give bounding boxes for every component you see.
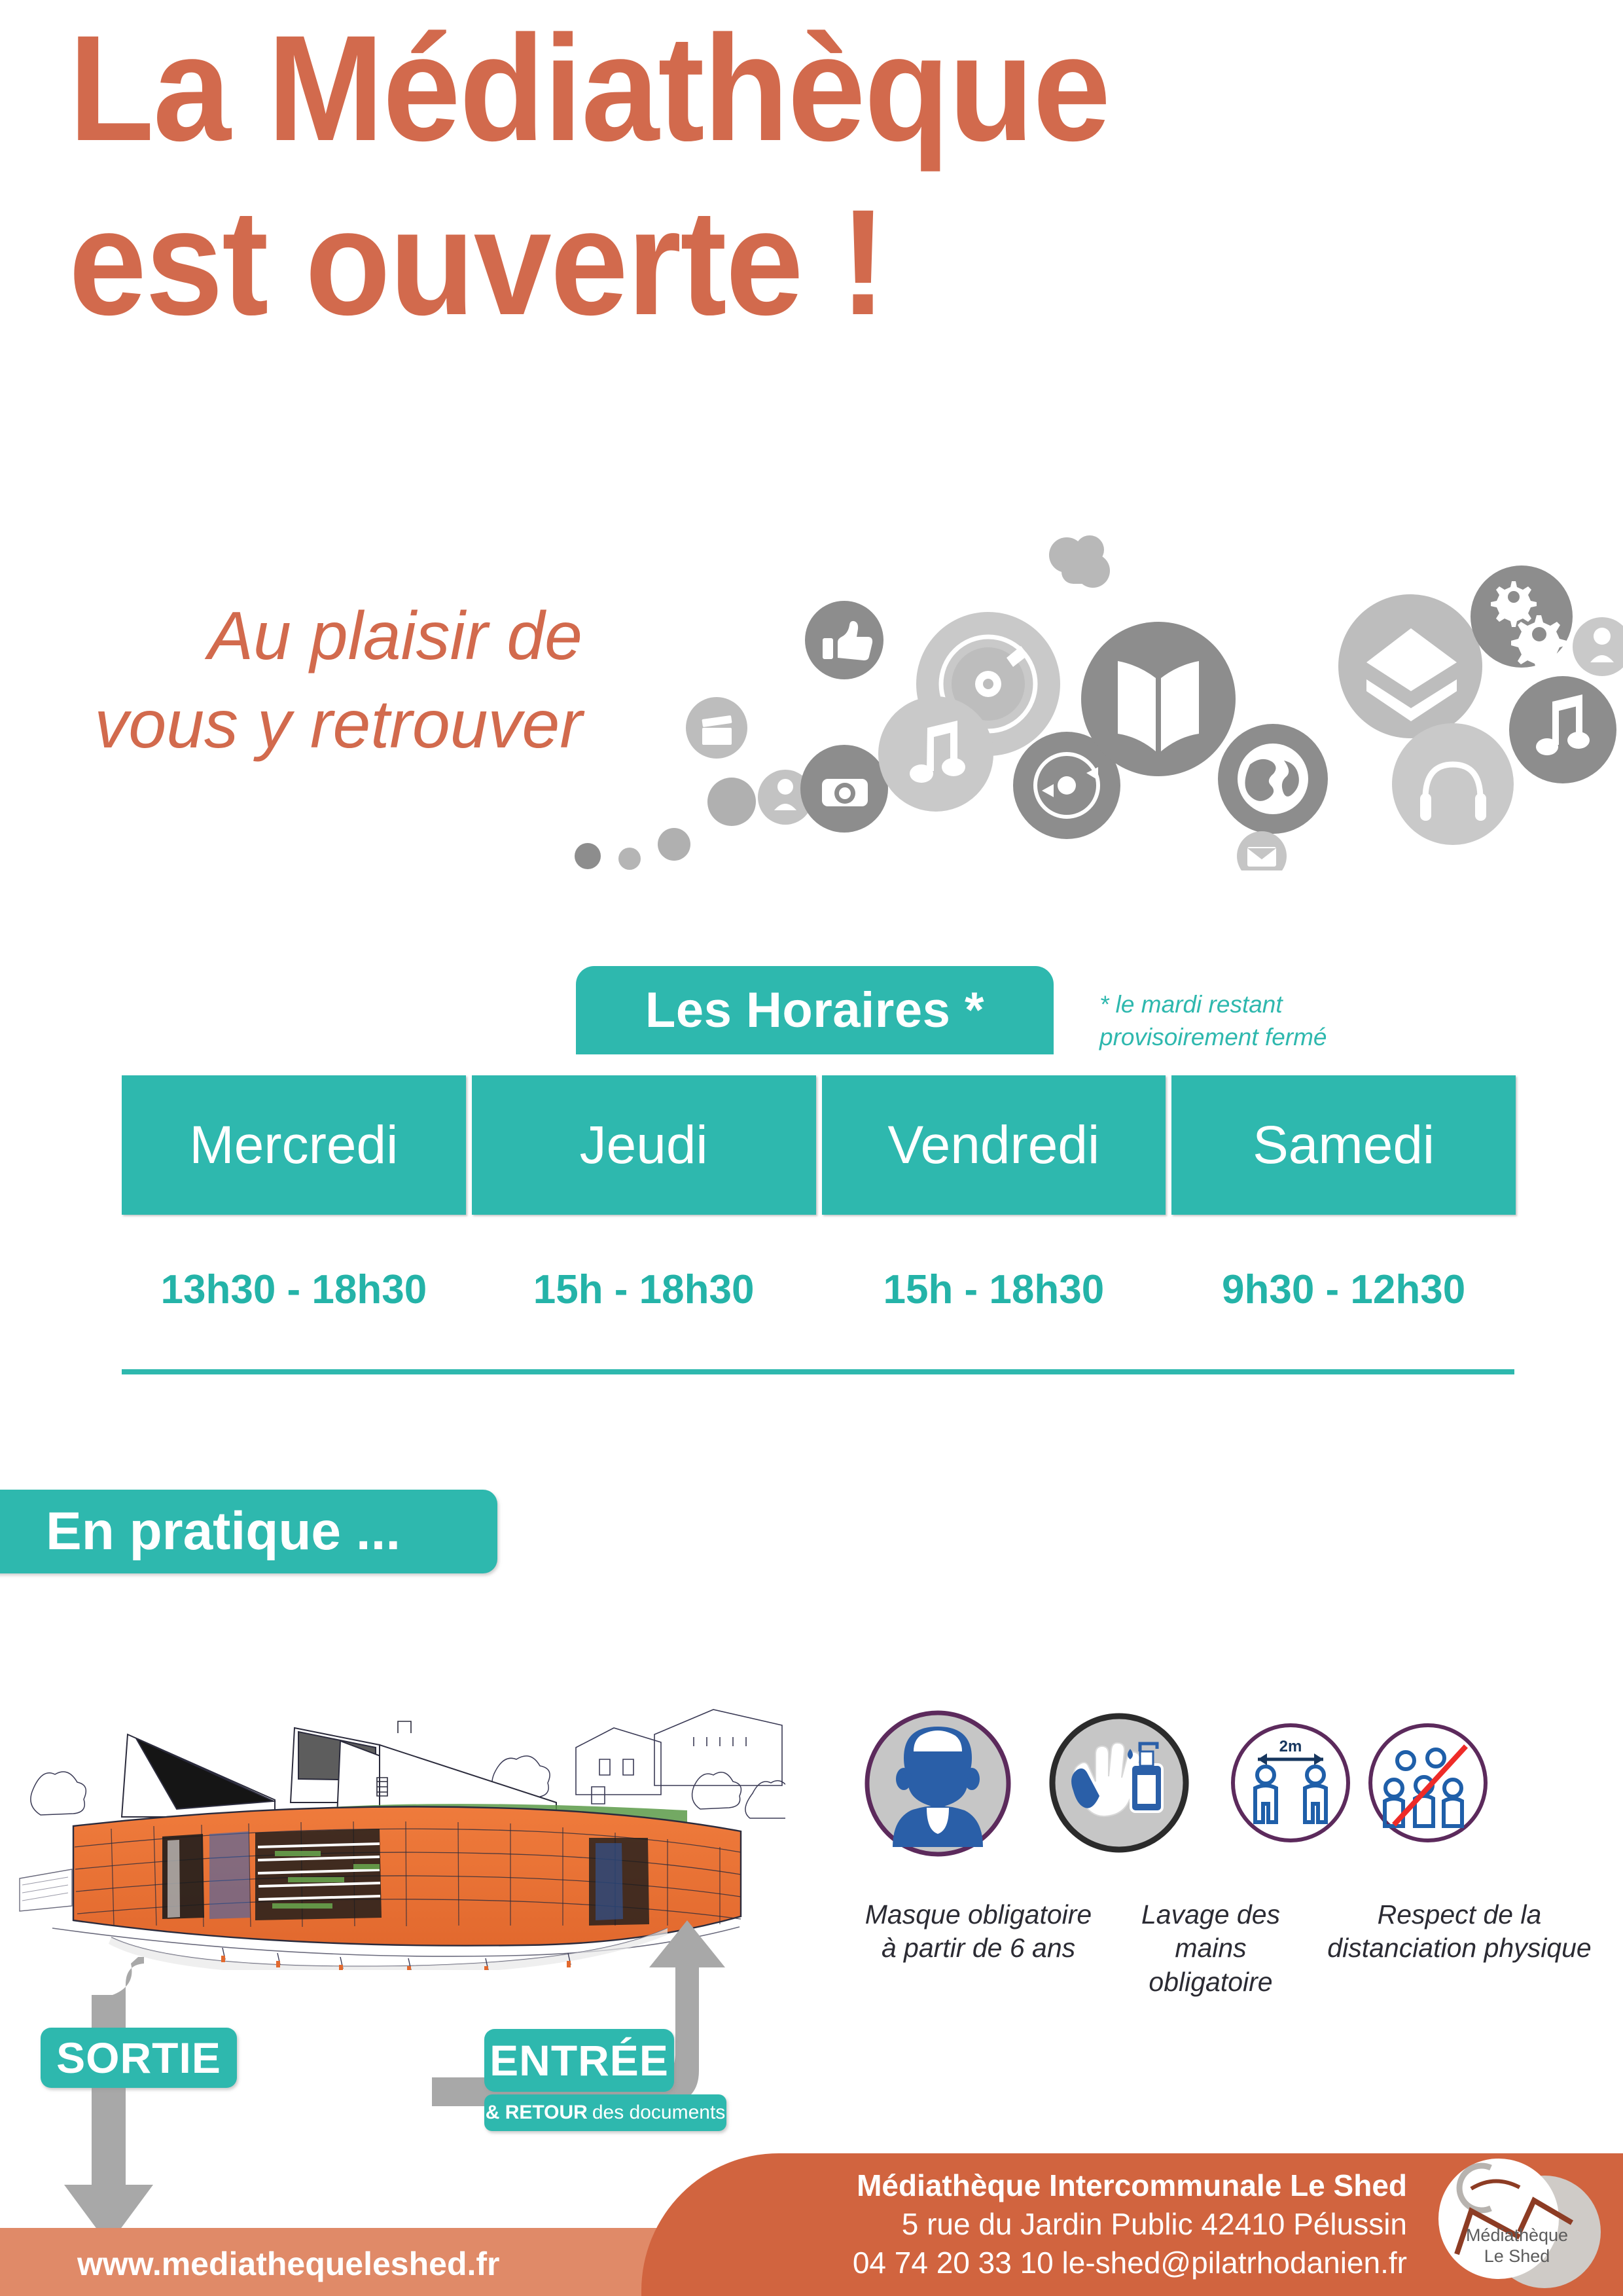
footer-address: 5 rue du Jardin Public 42410 Pélussin	[853, 2205, 1407, 2244]
entrance-sub-rest: des documents	[592, 2102, 725, 2124]
covid-measures: 2m	[851, 1702, 1610, 2029]
footer-contact-line: 04 74 20 33 10 le-shed@pilatrhodanien.fr	[853, 2244, 1407, 2282]
footer-contact-text: Médiathèque Intercommunale Le Shed 5 rue…	[853, 2166, 1407, 2282]
hours-samedi: 9h30 - 12h30	[1171, 1244, 1516, 1335]
covid-caption-mask: Masque obligatoire à partir de 6 ans	[851, 1898, 1106, 1965]
schedule-divider	[122, 1369, 1514, 1374]
dot-icon	[575, 843, 601, 869]
globe-icon	[1238, 744, 1308, 814]
exit-arrow-shape	[64, 1957, 153, 2245]
day-header-jeudi: Jeudi	[472, 1075, 816, 1215]
logo-text-line2: Le Shed	[1484, 2246, 1550, 2266]
logo: Médiathèque Le Shed	[1414, 2155, 1603, 2296]
distance-label: 2m	[1279, 1738, 1302, 1755]
schedule-tab-title: Les Horaires *	[576, 966, 1054, 1054]
person-icon	[1573, 617, 1623, 676]
hand-wash-icon	[1047, 1711, 1191, 1855]
film-clapper-icon	[702, 715, 732, 745]
covid-caption-distancing-line1: Respect de la	[1309, 1898, 1610, 1931]
face-mask-icon	[863, 1708, 1013, 1859]
hours-vendredi: 15h - 18h30	[822, 1244, 1166, 1335]
physical-distancing-icon: 2m	[1230, 1723, 1351, 1844]
title-line-2: est ouverte !	[69, 187, 1347, 338]
page-title: La Médiathèque est ouverte !	[69, 13, 1347, 338]
covid-caption-mask-line2: à partir de 6 ans	[851, 1931, 1106, 1965]
covid-caption-distancing-line2: distanciation physique	[1309, 1931, 1610, 1965]
covid-caption-distancing: Respect de la distanciation physique	[1309, 1898, 1610, 1965]
dot-icon	[618, 848, 641, 870]
tagline: Au plaisir de vous y retrouver	[85, 592, 582, 769]
covid-caption-mask-line1: Masque obligatoire	[851, 1898, 1106, 1931]
hours-jeudi: 15h - 18h30	[472, 1244, 816, 1335]
open-book-icon	[1081, 622, 1236, 776]
headphones-icon	[1392, 723, 1514, 845]
entrance-sub-bold: & RETOUR	[486, 2102, 588, 2124]
footer-org-name: Médiathèque Intercommunale Le Shed	[853, 2166, 1407, 2205]
schedule-note: * le mardi restant provisoirement fermé	[1099, 988, 1414, 1054]
schedule-days-row: Mercredi Jeudi Vendredi Samedi	[122, 1075, 1516, 1215]
day-header-mercredi: Mercredi	[122, 1075, 466, 1215]
media-bubbles-graphic	[569, 524, 1623, 870]
day-header-vendredi: Vendredi	[822, 1075, 1166, 1215]
cloud-icon	[1049, 535, 1110, 588]
day-header-samedi: Samedi	[1171, 1075, 1516, 1215]
music-note-icon	[878, 696, 993, 812]
practical-tab-title: En pratique ...	[0, 1490, 497, 1573]
entrance-sign: ENTRÉE	[484, 2029, 674, 2092]
covid-caption-handwash-line2: obligatoire	[1103, 1965, 1319, 1999]
music-note-icon	[1509, 676, 1616, 783]
entrance-sub-label: & RETOURdes documents	[484, 2094, 726, 2131]
logo-text-line1: Médiathèque	[1466, 2225, 1568, 2245]
title-line-1: La Médiathèque	[69, 4, 1109, 172]
envelope-icon	[1247, 847, 1276, 867]
dot-icon	[707, 778, 756, 826]
covid-caption-handwash-line1: Lavage des mains	[1103, 1898, 1319, 1965]
footer-website[interactable]: www.mediathequeleshed.fr	[77, 2245, 500, 2283]
schedule-hours-row: 13h30 - 18h30 15h - 18h30 15h - 18h30 9h…	[122, 1244, 1516, 1335]
dot-icon	[658, 828, 690, 861]
entrance-sign-group: ENTRÉE & RETOURdes documents	[484, 2029, 733, 2131]
covid-caption-handwash: Lavage des mains obligatoire	[1103, 1898, 1319, 1999]
exit-arrow-icon	[39, 1957, 183, 2251]
camera-icon	[822, 779, 868, 806]
no-crowd-icon	[1368, 1723, 1489, 1844]
poster-root: La Médiathèque est ouverte ! Au plaisir …	[0, 0, 1623, 2296]
exit-sign: SORTIE	[41, 2028, 237, 2088]
hours-mercredi: 13h30 - 18h30	[122, 1244, 466, 1335]
